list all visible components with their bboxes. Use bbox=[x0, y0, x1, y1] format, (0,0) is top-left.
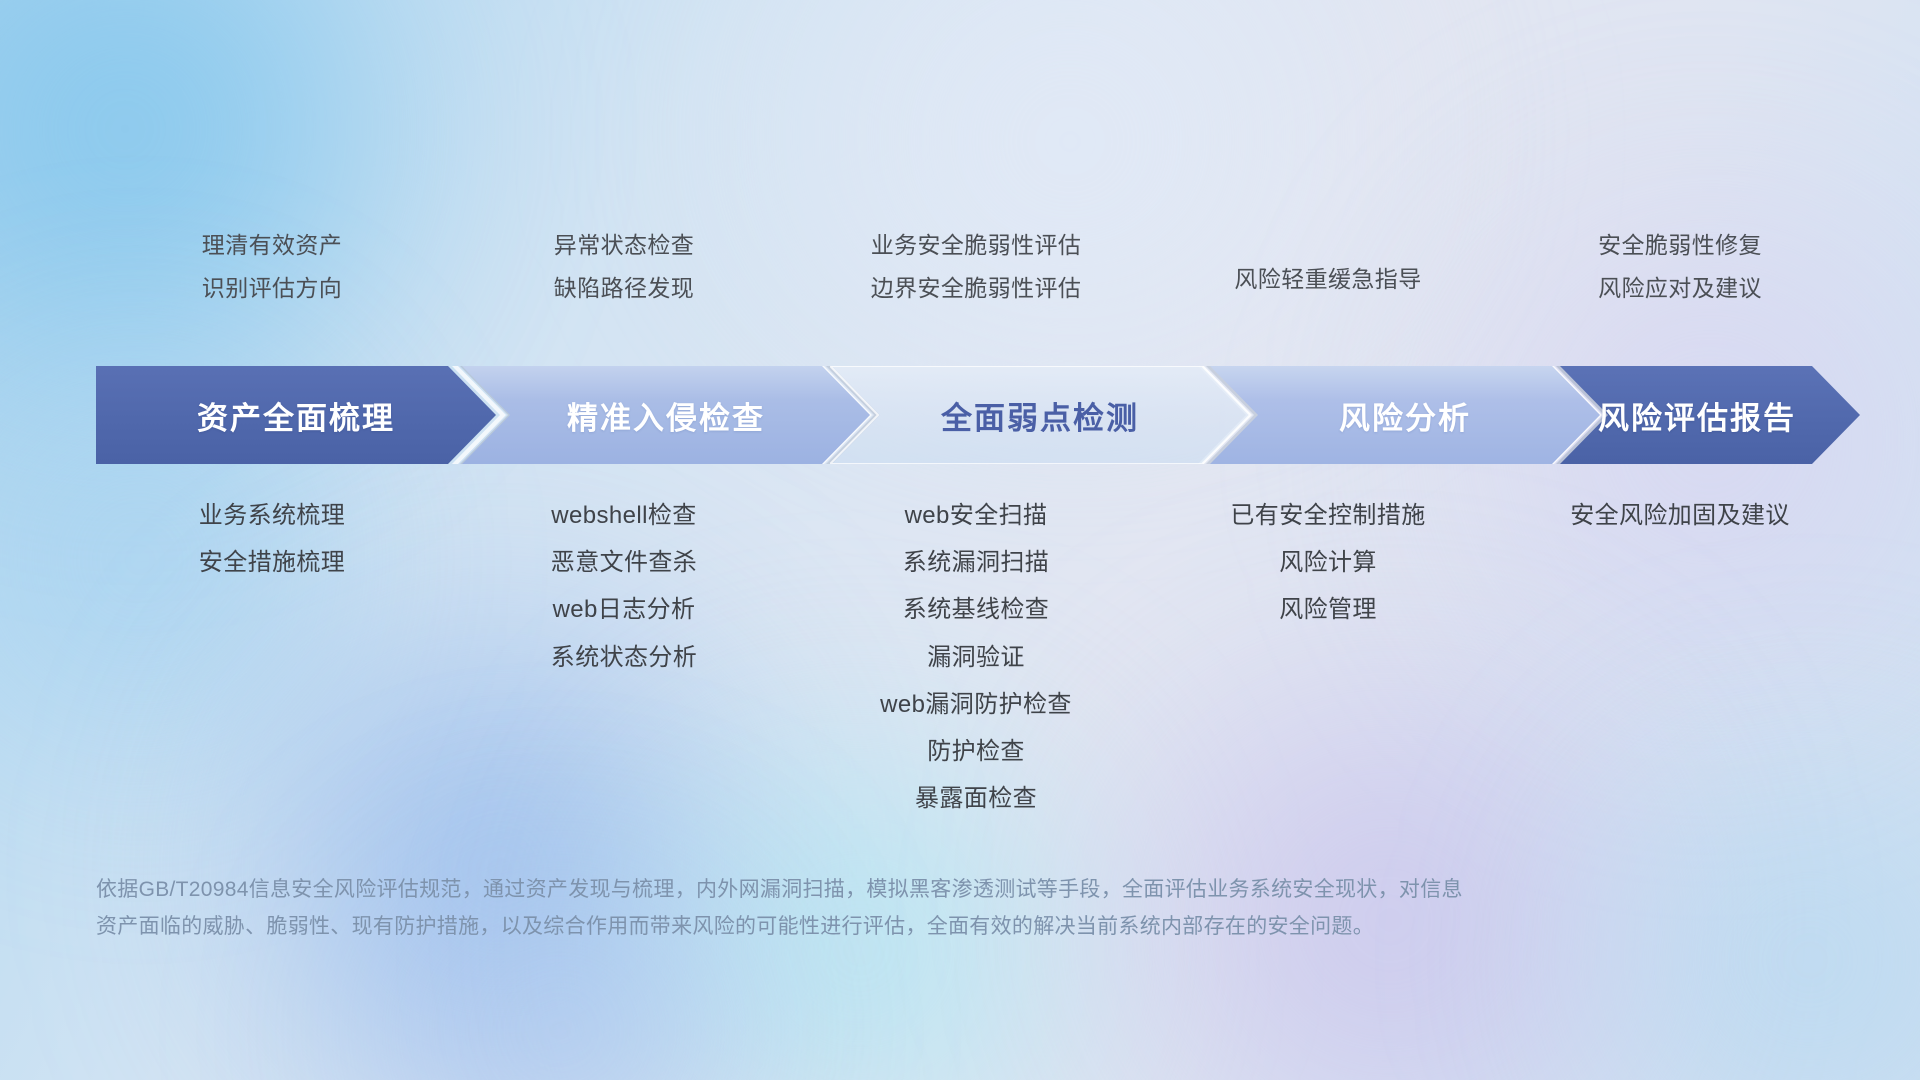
top-label-item: 风险轻重缓急指导 bbox=[1234, 264, 1421, 295]
top-labels-intrusion-check: 异常状态检查 缺陷路径发现 bbox=[448, 230, 800, 304]
footer-line: 资产面临的威胁、脆弱性、现有防护措施，以及综合作用而带来风险的可能性进行评估，全… bbox=[96, 909, 1656, 946]
stage-chevron-risk-report[interactable]: 风险评估报告 bbox=[1560, 366, 1860, 464]
top-label-row: 理清有效资产 识别评估方向 异常状态检查 缺陷路径发现 业务安全脆弱性评估 边界… bbox=[96, 230, 1856, 304]
top-label-item: 安全脆弱性修复 bbox=[1598, 230, 1762, 261]
bottom-label-item: 漏洞验证 bbox=[927, 642, 1025, 673]
top-label-item: 业务安全脆弱性评估 bbox=[871, 230, 1082, 261]
bottom-label-item: 防护检查 bbox=[927, 736, 1025, 767]
stage-title: 风险评估报告 bbox=[1598, 393, 1796, 438]
top-labels-risk-analysis: 风险轻重缓急指导 bbox=[1152, 230, 1504, 304]
bottom-label-item: web安全扫描 bbox=[905, 500, 1048, 531]
stage-title: 风险分析 bbox=[1339, 393, 1471, 438]
bottom-label-item: 风险计算 bbox=[1279, 547, 1377, 578]
bottom-label-item: webshell检查 bbox=[551, 500, 696, 531]
top-labels-asset-review: 理清有效资产 识别评估方向 bbox=[96, 230, 448, 304]
bottom-label-item: 业务系统梳理 bbox=[199, 500, 345, 531]
stage-chevron-weakness-detection[interactable]: 全面弱点检测 bbox=[830, 366, 1250, 464]
bottom-label-item: 系统漏洞扫描 bbox=[903, 547, 1049, 578]
footer-line: 依据GB/T20984信息安全风险评估规范，通过资产发现与梳理，内外网漏洞扫描，… bbox=[96, 872, 1656, 909]
top-label-item: 风险应对及建议 bbox=[1598, 273, 1762, 304]
bottom-labels-asset-review: 业务系统梳理 安全措施梳理 bbox=[96, 500, 448, 578]
bottom-label-item: 系统基线检查 bbox=[903, 594, 1049, 625]
bottom-label-item: web日志分析 bbox=[553, 594, 696, 625]
top-label-item: 理清有效资产 bbox=[202, 230, 342, 261]
top-label-item: 边界安全脆弱性评估 bbox=[871, 273, 1082, 304]
top-label-item: 异常状态检查 bbox=[554, 230, 694, 261]
bottom-label-item: 系统状态分析 bbox=[551, 642, 697, 673]
bottom-labels-risk-analysis: 已有安全控制措施 风险计算 风险管理 bbox=[1152, 500, 1504, 626]
bottom-labels-intrusion-check: webshell检查 恶意文件查杀 web日志分析 系统状态分析 bbox=[448, 500, 800, 673]
slide-canvas: 理清有效资产 识别评估方向 异常状态检查 缺陷路径发现 业务安全脆弱性评估 边界… bbox=[0, 0, 1920, 1080]
top-labels-risk-report: 安全脆弱性修复 风险应对及建议 bbox=[1504, 230, 1856, 304]
top-label-item: 缺陷路径发现 bbox=[554, 273, 694, 304]
footer-description: 依据GB/T20984信息安全风险评估规范，通过资产发现与梳理，内外网漏洞扫描，… bbox=[96, 872, 1656, 946]
bottom-labels-risk-report: 安全风险加固及建议 bbox=[1504, 500, 1856, 531]
stage-title: 全面弱点检测 bbox=[941, 393, 1139, 438]
bottom-label-item: 安全措施梳理 bbox=[199, 547, 345, 578]
stage-title: 精准入侵检查 bbox=[567, 393, 765, 438]
bottom-label-item: 暴露面检查 bbox=[915, 783, 1037, 814]
top-label-item: 识别评估方向 bbox=[202, 273, 342, 304]
bottom-label-item: 恶意文件查杀 bbox=[551, 547, 697, 578]
top-labels-weakness-detection: 业务安全脆弱性评估 边界安全脆弱性评估 bbox=[800, 230, 1152, 304]
stage-chevron-intrusion-check[interactable]: 精准入侵检查 bbox=[462, 366, 870, 464]
process-arrow-band: 资产全面梳理 bbox=[96, 366, 1860, 464]
stage-title: 资产全面梳理 bbox=[197, 393, 395, 438]
bottom-label-item: 风险管理 bbox=[1279, 594, 1377, 625]
stage-chevron-risk-analysis[interactable]: 风险分析 bbox=[1210, 366, 1600, 464]
bottom-label-row: 业务系统梳理 安全措施梳理 webshell检查 恶意文件查杀 web日志分析 … bbox=[96, 500, 1856, 814]
stage-chevron-asset-review[interactable]: 资产全面梳理 bbox=[96, 366, 496, 464]
bottom-label-item: 安全风险加固及建议 bbox=[1570, 500, 1790, 531]
bottom-label-item: 已有安全控制措施 bbox=[1230, 500, 1425, 531]
bottom-labels-weakness-detection: web安全扫描 系统漏洞扫描 系统基线检查 漏洞验证 web漏洞防护检查 防护检… bbox=[800, 500, 1152, 814]
bottom-label-item: web漏洞防护检查 bbox=[880, 689, 1072, 720]
